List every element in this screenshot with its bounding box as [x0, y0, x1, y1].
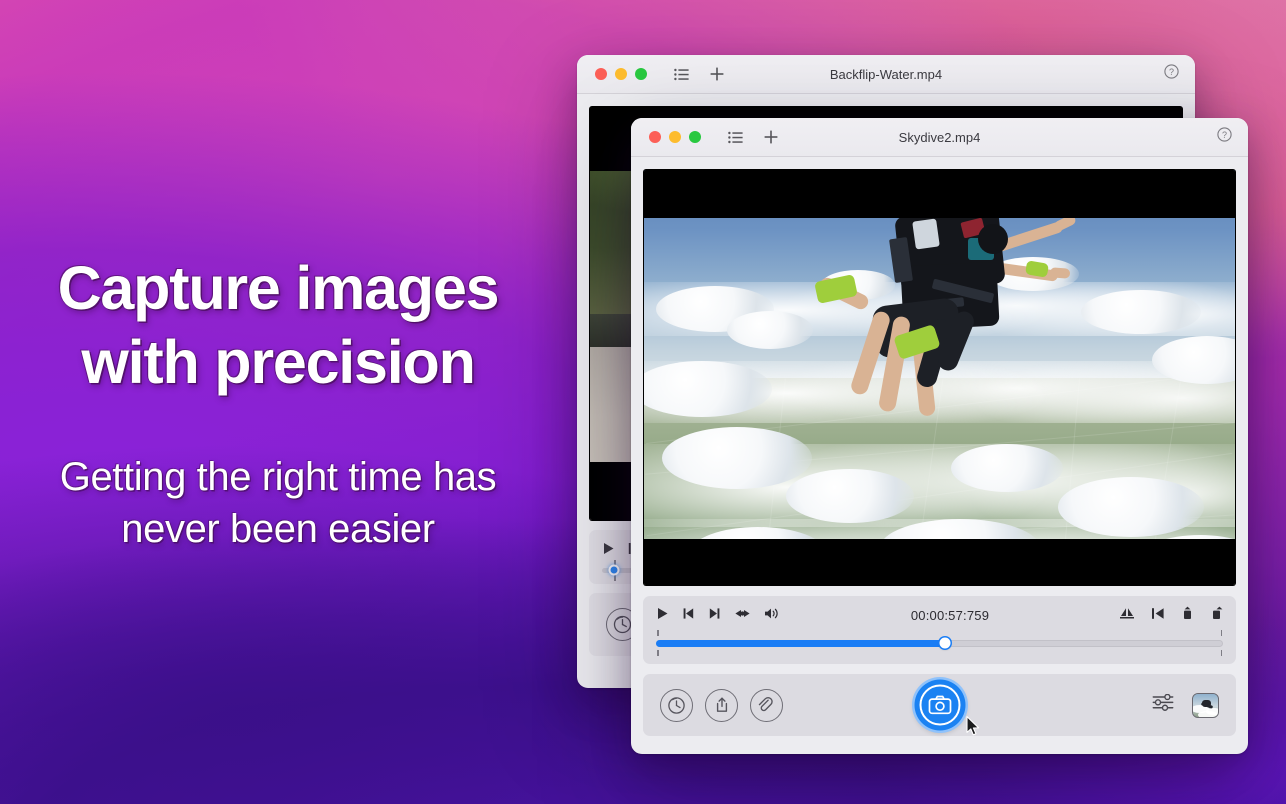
traffic-lights-back [595, 68, 647, 80]
svg-text:?: ? [1169, 67, 1174, 77]
trim-end-icon[interactable] [1210, 606, 1223, 625]
window-body-front: 00:00:57:759 [631, 157, 1248, 736]
scrub-handle[interactable] [940, 638, 951, 649]
list-icon[interactable] [674, 68, 689, 81]
zoom-button-front[interactable] [689, 131, 701, 143]
timer-button[interactable] [660, 689, 693, 722]
window-title-back: Backflip-Water.mp4 [577, 67, 1195, 82]
scrub-tick-start-top [657, 630, 659, 636]
scrub-tick-end-top [1221, 630, 1223, 636]
traffic-lights-front [649, 131, 701, 143]
minimize-button-front[interactable] [669, 131, 681, 143]
letterbox-top-front [644, 170, 1235, 218]
titlebar-tools-front [728, 130, 778, 144]
action-right-group [1152, 693, 1219, 718]
sliders-icon [1152, 694, 1174, 711]
attach-button[interactable] [750, 689, 783, 722]
hero-subline-line-1: Getting the right time has [0, 451, 556, 503]
close-button-front[interactable] [649, 131, 661, 143]
list-icon[interactable] [728, 131, 743, 144]
titlebar-tools-back [674, 67, 724, 81]
step-backward-icon[interactable] [682, 607, 695, 625]
paperclip-icon [757, 696, 776, 715]
scrub-handle-back[interactable] [609, 565, 620, 576]
window-skydive2[interactable]: Skydive2.mp4 ? [631, 118, 1248, 754]
passenger-hand-left [1050, 267, 1071, 278]
timecode-display: 00:00:57:759 [781, 608, 1119, 623]
share-button[interactable] [705, 689, 738, 722]
plus-icon[interactable] [710, 67, 724, 81]
close-button-back[interactable] [595, 68, 607, 80]
shuttle-icon[interactable] [734, 607, 751, 625]
thumbnail-preview[interactable] [1192, 693, 1219, 718]
titlebar-front[interactable]: Skydive2.mp4 ? [631, 118, 1248, 157]
helmet [978, 224, 1008, 254]
hero-subline-line-2: never been easier [0, 503, 556, 555]
cloud [786, 469, 914, 523]
go-to-start-icon[interactable] [1151, 607, 1165, 625]
minimize-button-back[interactable] [615, 68, 627, 80]
action-bar-front[interactable] [643, 674, 1236, 736]
capture-ring [914, 680, 965, 731]
skydivers [840, 190, 1120, 440]
cloud [951, 444, 1063, 492]
svg-text:?: ? [1222, 130, 1227, 140]
timer-icon [667, 696, 686, 715]
transport-bar-front[interactable]: 00:00:57:759 [643, 596, 1236, 664]
hero-headline-line-1: Capture images [0, 252, 556, 326]
plus-icon[interactable] [764, 130, 778, 144]
capture-button[interactable] [914, 680, 965, 731]
desktop-stage: Capture images with precision Getting th… [0, 0, 1286, 804]
transport-right-controls [1119, 606, 1223, 625]
play-icon[interactable] [656, 607, 669, 625]
hero-text-block: Capture images with precision Getting th… [0, 252, 556, 555]
capture-inner [919, 685, 960, 726]
hero-subline: Getting the right time has never been ea… [0, 451, 556, 555]
letterbox-bottom-front [644, 539, 1235, 585]
step-forward-icon[interactable] [708, 607, 721, 625]
rig-label [912, 218, 940, 249]
action-left-group [660, 689, 783, 722]
share-icon [713, 696, 731, 714]
volume-icon[interactable] [764, 607, 781, 625]
scrub-tick-start-bottom [657, 650, 659, 656]
cloud [727, 311, 813, 349]
hero-headline: Capture images with precision [0, 252, 556, 400]
play-icon[interactable] [602, 542, 615, 560]
help-icon[interactable]: ? [1164, 64, 1179, 84]
scrubber-front[interactable] [656, 634, 1223, 652]
hero-headline-line-2: with precision [0, 326, 556, 400]
adjustments-button[interactable] [1152, 694, 1174, 716]
trim-start-icon[interactable] [1181, 606, 1194, 625]
camera-icon [928, 696, 951, 715]
thumbnail-cloud [1198, 711, 1218, 717]
skydive-frame [644, 170, 1235, 585]
video-preview-front[interactable] [643, 169, 1236, 586]
transport-row: 00:00:57:759 [656, 605, 1223, 626]
scrub-tick-end-bottom [1221, 650, 1223, 656]
fit-screen-icon[interactable] [1119, 607, 1135, 625]
zoom-button-back[interactable] [635, 68, 647, 80]
transport-left-controls [656, 607, 781, 625]
mouse-pointer [966, 716, 981, 742]
cloud [662, 427, 812, 489]
window-title-front: Skydive2.mp4 [631, 130, 1248, 145]
titlebar-back[interactable]: Backflip-Water.mp4 ? [577, 55, 1195, 94]
scrub-progress [656, 640, 945, 647]
help-icon[interactable]: ? [1217, 127, 1232, 147]
cloud [1058, 477, 1204, 537]
